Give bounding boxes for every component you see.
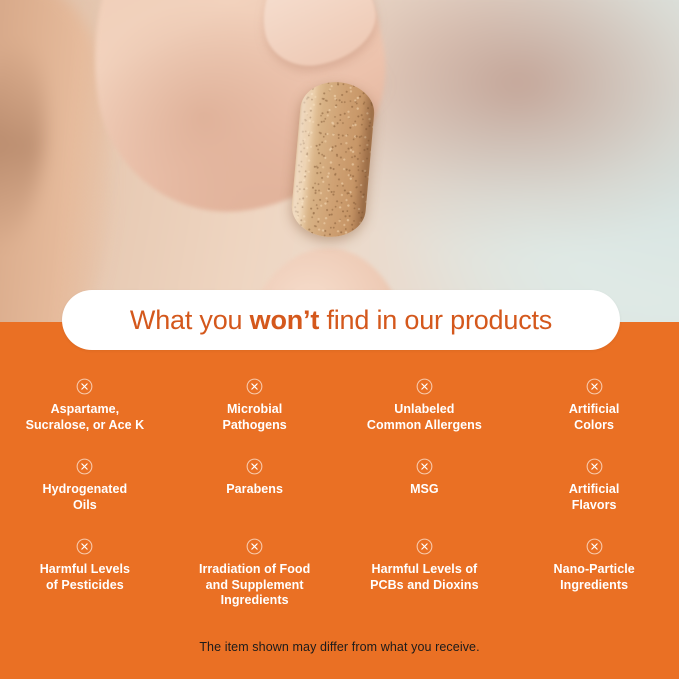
circle-x-icon [586, 538, 603, 555]
exclusion-label: Artificial Colors [569, 402, 620, 433]
exclusion-label: Harmful Levels of Pesticides [40, 562, 130, 593]
circle-x-icon [416, 458, 433, 475]
exclusion-label: Unlabeled Common Allergens [367, 402, 482, 433]
exclusion-label: Irradiation of Food and Supplement Ingre… [199, 562, 310, 609]
circle-x-icon [76, 378, 93, 395]
exclusion-item: Nano-Particle Ingredients [509, 526, 679, 608]
circle-x-icon [416, 538, 433, 555]
exclusion-item: Harmful Levels of Pesticides [0, 526, 170, 608]
blurred-finger-left [0, 0, 110, 322]
exclusion-item: Irradiation of Food and Supplement Ingre… [170, 526, 340, 608]
disclaimer-note: The item shown may differ from what you … [0, 640, 679, 654]
headline-pill: What you won’t find in our products [62, 290, 620, 350]
headline-emphasis: won’t [250, 305, 319, 335]
circle-x-icon [246, 378, 263, 395]
exclusion-item: Unlabeled Common Allergens [340, 366, 510, 446]
grid-row: Aspartame, Sucralose, or Ace K Microbial… [0, 366, 679, 446]
circle-x-icon [246, 458, 263, 475]
exclusion-label: Aspartame, Sucralose, or Ace K [26, 402, 145, 433]
exclusion-label: Parabens [226, 482, 283, 498]
circle-x-icon [586, 378, 603, 395]
exclusion-label: Harmful Levels of PCBs and Dioxins [370, 562, 478, 593]
grid-row: Hydrogenated Oils Parabens MSG [0, 446, 679, 526]
circle-x-icon [586, 458, 603, 475]
exclusion-item: Aspartame, Sucralose, or Ace K [0, 366, 170, 446]
headline-prefix: What you [130, 305, 250, 335]
finger-crease [0, 37, 55, 253]
exclusion-item: Hydrogenated Oils [0, 446, 170, 526]
circle-x-icon [246, 538, 263, 555]
exclusion-item: Microbial Pathogens [170, 366, 340, 446]
exclusion-label: MSG [410, 482, 439, 498]
exclusion-item: MSG [340, 446, 510, 526]
product-claims-infographic: What you won’t find in our products Aspa… [0, 0, 679, 679]
exclusion-label: Hydrogenated Oils [43, 482, 128, 513]
circle-x-icon [76, 458, 93, 475]
supplement-tablet [289, 79, 376, 240]
exclusion-label: Artificial Flavors [569, 482, 620, 513]
exclusion-item: Artificial Flavors [509, 446, 679, 526]
exclusion-item: Artificial Colors [509, 366, 679, 446]
exclusion-item: Parabens [170, 446, 340, 526]
exclusion-item: Harmful Levels of PCBs and Dioxins [340, 526, 510, 608]
grid-row: Harmful Levels of Pesticides Irradiation… [0, 526, 679, 608]
exclusion-label: Nano-Particle Ingredients [554, 562, 635, 593]
product-photo [0, 0, 679, 322]
circle-x-icon [416, 378, 433, 395]
page-title: What you won’t find in our products [130, 305, 552, 336]
circle-x-icon [76, 538, 93, 555]
headline-suffix: find in our products [319, 305, 552, 335]
exclusion-label: Microbial Pathogens [222, 402, 286, 433]
exclusion-grid: Aspartame, Sucralose, or Ace K Microbial… [0, 366, 679, 608]
